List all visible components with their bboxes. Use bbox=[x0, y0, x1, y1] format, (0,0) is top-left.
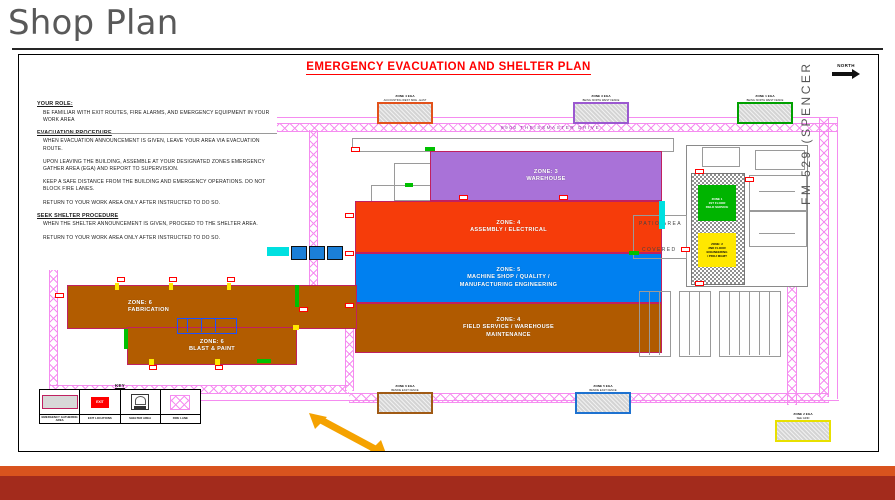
gather-area-zone4[interactable]: ZONE 4 EGA ACCOUNTING WEST SIDE - EAST bbox=[377, 95, 433, 124]
ega2-line1: ZONE 3 EGA bbox=[591, 94, 610, 98]
exit-marker-16[interactable] bbox=[149, 365, 157, 370]
fire-lane-right bbox=[819, 117, 829, 397]
gather-area-zone3-box bbox=[573, 102, 629, 124]
exit-marker-14[interactable] bbox=[169, 277, 177, 282]
door-marker-3 bbox=[227, 283, 231, 290]
ega3-line1: ZONE 1 EGA bbox=[755, 94, 774, 98]
drive-name-label: 8900 THEISSMASTER DRIVE bbox=[501, 125, 600, 130]
office-room-b bbox=[749, 211, 807, 247]
exit-marker-7[interactable] bbox=[695, 169, 704, 174]
zone-block-2nd-floor-engineering[interactable]: ZONE: 2 2ND FLOOR ENGINEERING / PROJ MGM… bbox=[698, 233, 736, 267]
zone-6b-line2: BLAST & PAINT bbox=[189, 346, 235, 352]
ega1-line1: ZONE 4 EGA bbox=[395, 94, 414, 98]
gather-area-zone2-box bbox=[775, 420, 831, 442]
zone-3-line1: ZONE: 3 bbox=[534, 169, 558, 175]
zone-6a-line1: ZONE: 6 bbox=[128, 300, 152, 306]
zone-block-machine-shop[interactable]: ZONE: 5 MACHINE SHOP / QUALITY / MANUFAC… bbox=[355, 253, 662, 303]
zone-block-field-service[interactable]: ZONE: 4 FIELD SERVICE / WAREHOUSE MAINTE… bbox=[355, 303, 662, 353]
plan-rule bbox=[37, 133, 277, 134]
legend-label-fire-lane: FIRE LANE bbox=[161, 415, 200, 423]
machine-icon-1 bbox=[291, 246, 307, 260]
exit-marker-17[interactable] bbox=[215, 365, 223, 370]
gather-area-zone3[interactable]: ZONE 3 EGA BEING NORTH WEST FENCE bbox=[573, 95, 629, 124]
exit-marker-13[interactable] bbox=[117, 277, 125, 282]
exit-marker-8[interactable] bbox=[695, 281, 704, 286]
fire-lane-far-left bbox=[49, 270, 58, 385]
legend-cell-exit: EXIT bbox=[80, 390, 120, 414]
door-marker-2 bbox=[169, 283, 173, 290]
parking-row-d bbox=[755, 150, 805, 170]
parking-stall-lines-a bbox=[719, 291, 779, 355]
door-marker-7 bbox=[257, 359, 271, 363]
zone-4a-line2: ASSEMBLY / ELECTRICAL bbox=[470, 227, 547, 233]
ega5-line1: ZONE 5 EGA bbox=[593, 384, 612, 388]
footer-bar bbox=[0, 476, 895, 500]
zone-4b-line3: MAINTENANCE bbox=[486, 332, 531, 338]
equipment-divider-1 bbox=[187, 318, 188, 332]
office-wall-a bbox=[759, 191, 795, 192]
your-role-heading: YOUR ROLE: bbox=[37, 101, 277, 107]
floor-plan-sheet: EMERGENCY EVACUATION AND SHELTER PLAN NO… bbox=[18, 54, 879, 452]
zone-block-warehouse[interactable]: ZONE: 3 WAREHOUSE bbox=[430, 151, 662, 201]
building-north-wall bbox=[352, 138, 674, 152]
shelter-step-1: WHEN THE SHELTER ANNOUNCEMENT IS GIVEN, … bbox=[43, 221, 277, 228]
legend-label-gathering: EMERGENCY GATHERING AREA bbox=[40, 415, 80, 423]
zone-6a-line2: FABRICATION bbox=[128, 307, 169, 313]
door-marker-5 bbox=[295, 285, 299, 307]
evacuation-step-2: UPON LEAVING THE BUILDING, ASSEMBLE AT Y… bbox=[43, 159, 277, 173]
legend: KEY EXIT EMERGENCY GATHERING AREA EXIT L… bbox=[39, 383, 201, 424]
evacuation-step-4: RETURN TO YOUR WORK AREA ONLY AFTER INST… bbox=[43, 200, 277, 207]
exit-marker-6[interactable] bbox=[345, 213, 354, 218]
site-edge-right bbox=[837, 117, 838, 399]
evacuation-route-arrow bbox=[307, 411, 389, 452]
title-divider bbox=[12, 48, 883, 50]
fire-lane-hatch-icon bbox=[170, 395, 190, 410]
door-marker-6 bbox=[124, 329, 128, 349]
zone-2-line4: / PROJ MGMT bbox=[707, 254, 727, 258]
gather-area-zone6[interactable]: ZONE 6 EGA BESIDE EAST FENCE bbox=[377, 385, 433, 414]
equipment-divider-3 bbox=[215, 318, 216, 332]
office-wall-b bbox=[759, 233, 795, 234]
exit-marker-2[interactable] bbox=[459, 195, 468, 200]
north-arrow: NORTH bbox=[819, 63, 873, 79]
gathering-area-icon bbox=[42, 395, 78, 409]
legend-label-exit: EXIT LOCATIONS bbox=[80, 415, 120, 423]
zone-4b-line2: FIELD SERVICE / WAREHOUSE bbox=[463, 324, 554, 330]
zone-5-line2: MACHINE SHOP / QUALITY / bbox=[467, 274, 550, 280]
door-marker-4 bbox=[293, 325, 299, 330]
exit-marker-10[interactable] bbox=[681, 247, 690, 252]
shelter-step-2: RETURN TO YOUR WORK AREA ONLY AFTER INST… bbox=[43, 235, 277, 242]
door-marker-8 bbox=[149, 359, 154, 365]
parking-stall-lines-b bbox=[679, 291, 709, 355]
gather-area-zone4-box bbox=[377, 102, 433, 124]
equipment-outline-a bbox=[177, 318, 237, 334]
plan-heading: EMERGENCY EVACUATION AND SHELTER PLAN bbox=[19, 61, 878, 73]
shelter-marker-east bbox=[659, 201, 665, 229]
legend-label-shelter: SHELTER AREA bbox=[121, 415, 161, 423]
north-arrow-icon bbox=[819, 69, 873, 79]
shelter-icon bbox=[131, 394, 149, 410]
legend-title: KEY bbox=[39, 383, 201, 388]
exit-marker-1[interactable] bbox=[351, 147, 360, 152]
legend-label-row: EMERGENCY GATHERING AREA EXIT LOCATIONS … bbox=[39, 415, 201, 424]
footer-accent-bar bbox=[0, 466, 895, 476]
door-marker-11 bbox=[405, 183, 413, 187]
gather-area-zone6-box bbox=[377, 392, 433, 414]
evacuation-step-1: WHEN EVACUATION ANNOUNCEMENT IS GIVEN, L… bbox=[43, 138, 277, 152]
gather-area-zone1-box bbox=[737, 102, 793, 124]
site-edge-left bbox=[49, 270, 50, 390]
exit-marker-3[interactable] bbox=[559, 195, 568, 200]
road-name-label: FM 529 (SPENCER ROAD) bbox=[799, 65, 813, 205]
exit-marker-4[interactable] bbox=[345, 251, 354, 256]
exit-sign-icon: EXIT bbox=[91, 397, 109, 408]
gather-area-zone2[interactable]: ZONE 2 EGA SEE GRID bbox=[775, 413, 831, 442]
zone-1-line3: FIELD SERVICE bbox=[706, 205, 729, 209]
gather-area-zone5-box bbox=[575, 392, 631, 414]
exit-marker-11[interactable] bbox=[55, 293, 64, 298]
shelter-marker-shop bbox=[267, 247, 289, 256]
door-marker-9 bbox=[215, 359, 220, 365]
zone-5-line3: MANUFACTURING ENGINEERING bbox=[460, 282, 558, 288]
instructions-block: YOUR ROLE: BE FAMILIAR WITH EXIT ROUTES,… bbox=[37, 101, 277, 248]
zone-4a-line1: ZONE: 4 bbox=[496, 220, 520, 226]
exit-marker-5[interactable] bbox=[345, 303, 354, 308]
exit-marker-9[interactable] bbox=[745, 177, 754, 182]
page-title: Shop Plan bbox=[8, 2, 178, 44]
ega1-line2: ACCOUNTING WEST SIDE - EAST bbox=[377, 99, 433, 103]
your-role-body: BE FAMILIAR WITH EXIT ROUTES, FIRE ALARM… bbox=[43, 110, 277, 124]
office-entry bbox=[702, 147, 740, 167]
machine-icon-3 bbox=[327, 246, 343, 260]
north-label: NORTH bbox=[819, 63, 873, 68]
zone-4b-line1: ZONE: 4 bbox=[496, 317, 520, 323]
zone-block-assembly-electrical[interactable]: ZONE: 4 ASSEMBLY / ELECTRICAL bbox=[355, 201, 662, 253]
exit-marker-15[interactable] bbox=[227, 277, 235, 282]
fire-lane-left bbox=[309, 130, 318, 310]
legend-cell-shelter bbox=[121, 390, 161, 414]
machine-icon-2 bbox=[309, 246, 325, 260]
ega6-line1: ZONE 2 EGA bbox=[793, 412, 812, 416]
shelter-procedure-heading: SEEK SHELTER PROCEDURE bbox=[37, 213, 277, 219]
exit-marker-12[interactable] bbox=[299, 307, 308, 312]
legend-cell-gathering bbox=[40, 390, 80, 414]
zone-5-line1: ZONE: 5 bbox=[496, 267, 520, 273]
door-marker-10 bbox=[425, 147, 435, 151]
zone-3-line2: WAREHOUSE bbox=[526, 176, 565, 182]
evacuation-step-3: KEEP A SAFE DISTANCE FROM THE BUILDING A… bbox=[43, 179, 277, 193]
door-marker-1 bbox=[115, 283, 119, 290]
legend-cell-fire-lane bbox=[161, 390, 200, 414]
legend-icon-row: EXIT bbox=[39, 389, 201, 415]
zone-block-1st-floor-field-service[interactable]: ZONE 1 1ST FLOOR FIELD SERVICE bbox=[698, 185, 736, 221]
gather-area-zone5[interactable]: ZONE 5 EGA BESIDE EAST FENCE bbox=[575, 385, 631, 414]
ega4-line1: ZONE 6 EGA bbox=[395, 384, 414, 388]
equipment-divider-2 bbox=[201, 318, 202, 332]
zone-6b-line1: ZONE: 6 bbox=[200, 339, 224, 345]
gather-area-zone1[interactable]: ZONE 1 EGA BEING NORTH WEST FENCE bbox=[737, 95, 793, 124]
parking-stall-lines-c bbox=[639, 291, 669, 355]
door-marker-12 bbox=[629, 251, 639, 255]
